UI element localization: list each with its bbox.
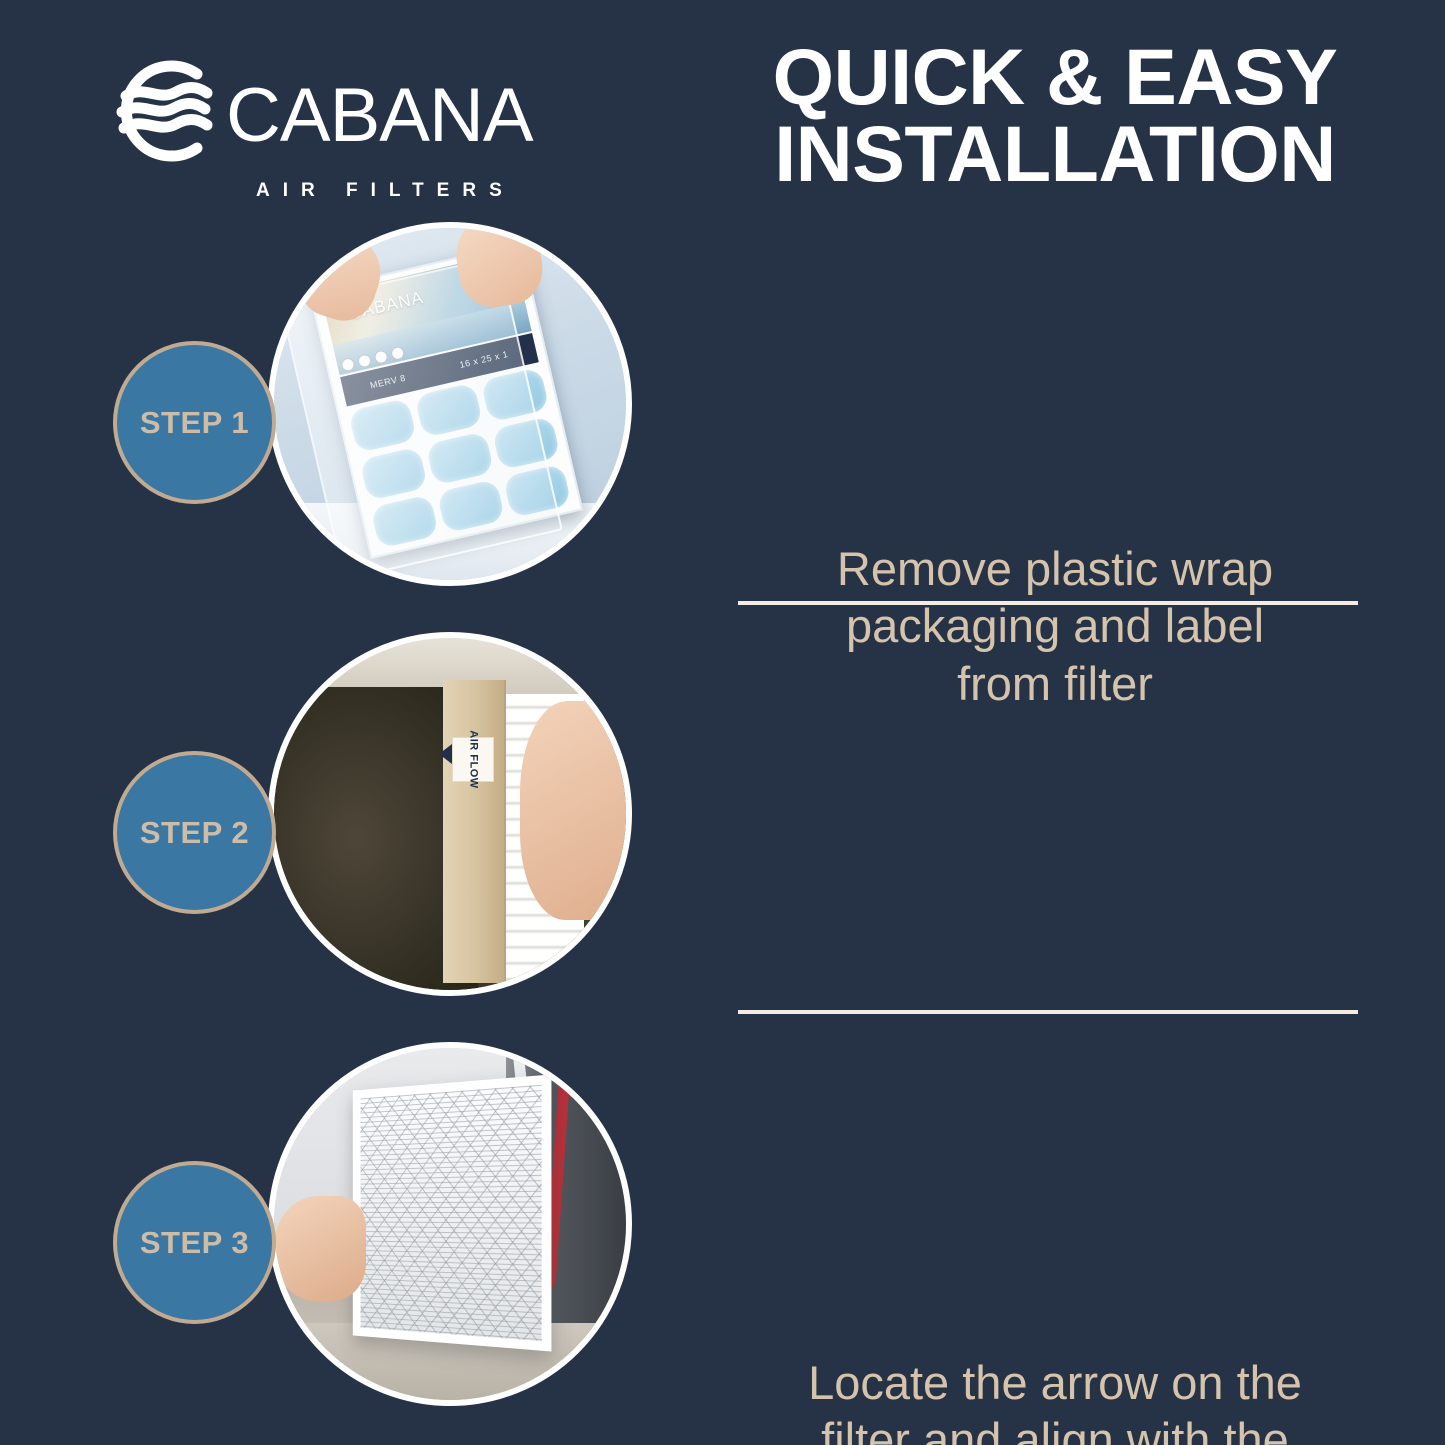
air-flow-arrow-icon (439, 744, 452, 764)
filter-unwrapping-photo: CABANA MERV 8 16 x 25 x 1 (268, 222, 632, 586)
step-1-line-2: packaging and label (735, 597, 1375, 654)
air-flow-label-text: AIR FLOW (467, 730, 478, 788)
air-flow-arrow-photo: AIR FLOW (268, 632, 632, 996)
step-1-line-1: Remove plastic wrap (735, 540, 1375, 597)
brand-name: CABANA (226, 78, 533, 154)
hand-holding-filter (520, 701, 626, 919)
headline-line-1: QUICK & EASY (773, 32, 1338, 121)
air-flow-label: AIR FLOW (452, 737, 494, 783)
infographic-page: CABANA AIR FILTERS QUICK & EASY INSTALLA… (0, 0, 1445, 1445)
step-description-2: Locate the arrow on the filter and align… (735, 1354, 1375, 1445)
brand-tagline: AIR FILTERS (256, 180, 515, 202)
step-badge-3: STEP 3 (113, 1161, 276, 1324)
step-badge-2: STEP 2 (113, 751, 276, 914)
step-badge-label-3: STEP 3 (140, 1225, 249, 1261)
divider-step1-step2 (738, 601, 1358, 605)
step-1-line-3: from filter (735, 655, 1375, 712)
headline-line-2: INSTALLATION (735, 115, 1375, 192)
step-description-1: Remove plastic wrap packaging and label … (735, 540, 1375, 712)
hand-inserting-filter (274, 1196, 366, 1302)
step-2-line-2: filter and align with the (735, 1411, 1375, 1445)
step-badge-label-1: STEP 1 (140, 405, 249, 441)
step-badge-label-2: STEP 2 (140, 815, 249, 851)
step-badge-1: STEP 1 (113, 341, 276, 504)
brand-logo: CABANA AIR FILTERS (104, 48, 634, 176)
step-2-line-1: Locate the arrow on the (735, 1354, 1375, 1411)
filter-insertion-photo (268, 1042, 632, 1406)
cabana-wave-logo-icon (104, 52, 222, 170)
new-filter (353, 1075, 552, 1353)
page-title: QUICK & EASY INSTALLATION (735, 38, 1375, 193)
divider-step2-step3 (738, 1010, 1358, 1014)
